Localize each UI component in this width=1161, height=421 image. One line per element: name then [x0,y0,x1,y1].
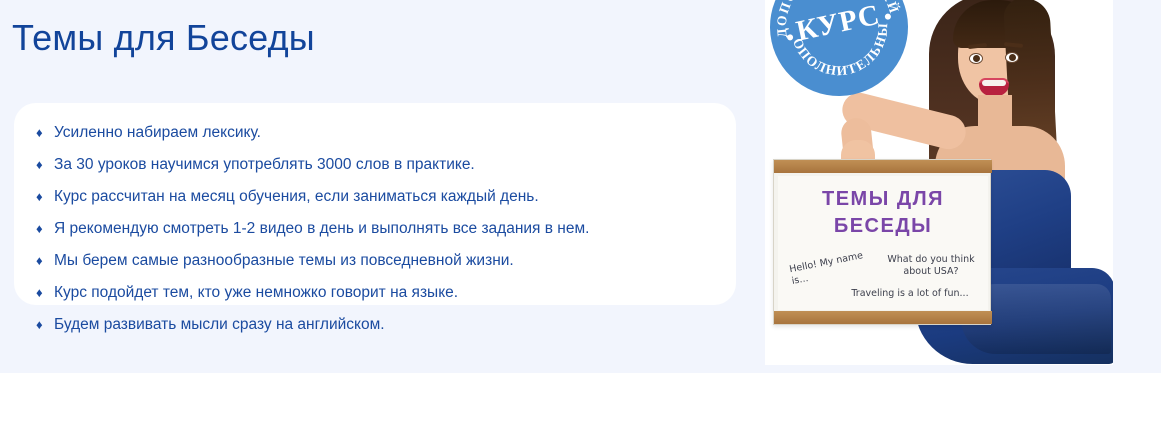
diamond-bullet-icon: ♦ [36,121,54,145]
list-item: ♦ Курс рассчитан на месяц обучения, если… [36,185,710,209]
pupil-left [973,55,980,62]
list-item: ♦ За 30 уроков научимся употреблять 3000… [36,153,710,177]
diamond-bullet-icon: ♦ [36,217,54,241]
board-surface: ТЕМЫ ДЛЯ БЕСЕДЫ Hello! My name is... Wha… [778,176,988,310]
diamond-bullet-icon: ♦ [36,313,54,337]
diamond-bullet-icon: ♦ [36,281,54,305]
list-item: ♦ Мы берем самые разнообразные темы из п… [36,249,710,273]
benefits-list: ♦ Усиленно набираем лексику. ♦ За 30 уро… [36,121,710,337]
list-item: ♦ Будем развивать мысли сразу на английс… [36,313,710,337]
list-item-label: Мы берем самые разнообразные темы из пов… [54,249,710,273]
benefits-card: ♦ Усиленно набираем лексику. ♦ За 30 уро… [14,103,736,305]
course-photo: ТЕМЫ ДЛЯ БЕСЕДЫ Hello! My name is... Wha… [765,0,1113,365]
list-item-label: Курс подойдет тем, кто уже немножко гово… [54,281,710,305]
board-rail-bottom [774,311,992,324]
whiteboard: ТЕМЫ ДЛЯ БЕСЕДЫ Hello! My name is... Wha… [773,159,991,325]
board-title: ТЕМЫ ДЛЯ БЕСЕДЫ [778,186,988,240]
board-note-hello: Hello! My name is... [789,248,878,288]
list-item-label: Будем развивать мысли сразу на английско… [54,313,710,337]
diamond-bullet-icon: ♦ [36,249,54,273]
board-title-line-2: БЕСЕДЫ [778,213,988,240]
board-title-line-1: ТЕМЫ ДЛЯ [778,186,988,213]
list-item: ♦ Я рекомендую смотреть 1-2 видео в день… [36,217,710,241]
diamond-bullet-icon: ♦ [36,153,54,177]
list-item-label: Курс рассчитан на месяц обучения, если з… [54,185,710,209]
page-root: Темы для Беседы ♦ Усиленно набираем лекс… [0,0,1161,421]
diamond-bullet-icon: ♦ [36,185,54,209]
pupil-right [1009,54,1016,61]
board-note-question: What do you think about USA? [882,254,980,278]
left-content-column: Темы для Беседы ♦ Усиленно набираем лекс… [0,0,763,373]
board-rail-top [774,160,992,173]
list-item: ♦ Курс подойдет тем, кто уже немножко го… [36,281,710,305]
teeth [982,80,1006,86]
page-title: Темы для Беседы [12,16,315,60]
list-item-label: Я рекомендую смотреть 1-2 видео в день и… [54,217,710,241]
list-item-label: За 30 уроков научимся употреблять 3000 с… [54,153,710,177]
list-item: ♦ Усиленно набираем лексику. [36,121,710,145]
list-item-label: Усиленно набираем лексику. [54,121,710,145]
board-note-traveling: Traveling is a lot of fun... [840,288,980,300]
